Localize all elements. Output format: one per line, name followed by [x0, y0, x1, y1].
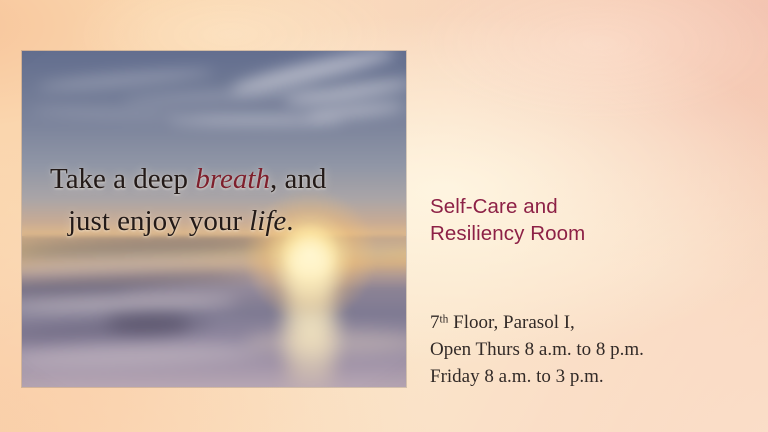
- presentation-slide: Take a deep breath, and just enjoy your …: [0, 0, 768, 432]
- details-hours-thursday: Open Thurs 8 a.m. to 8 p.m.: [430, 337, 750, 364]
- details-location-text: Floor, Parasol I,: [448, 312, 574, 333]
- quote-emphasis-breath: breath: [195, 163, 270, 195]
- headline-line-1: Self-Care and: [430, 194, 730, 221]
- slide-headline: Self-Care and Resiliency Room: [430, 194, 730, 247]
- slide-details: 7th Floor, Parasol I, Open Thurs 8 a.m. …: [430, 310, 750, 390]
- quote-line-2-part-2: .: [286, 205, 293, 237]
- details-hours-friday: Friday 8 a.m. to 3 p.m.: [430, 364, 750, 391]
- photo-quote-text: Take a deep breath, and just enjoy your …: [22, 159, 406, 241]
- sunset-beach-photo: Take a deep breath, and just enjoy your …: [22, 51, 406, 387]
- quote-line-1: Take a deep breath, and: [36, 159, 392, 199]
- headline-line-2: Resiliency Room: [430, 221, 730, 248]
- quote-line-2: just enjoy your life.: [36, 201, 392, 241]
- details-location: 7th Floor, Parasol I,: [430, 310, 750, 337]
- quote-line-2-part-1: just enjoy your: [68, 205, 249, 237]
- quote-line-1-part-1: Take a deep: [50, 163, 195, 195]
- quote-line-1-part-2: , and: [270, 163, 326, 195]
- quote-emphasis-life: life: [249, 205, 286, 237]
- details-floor-number: 7: [430, 312, 440, 333]
